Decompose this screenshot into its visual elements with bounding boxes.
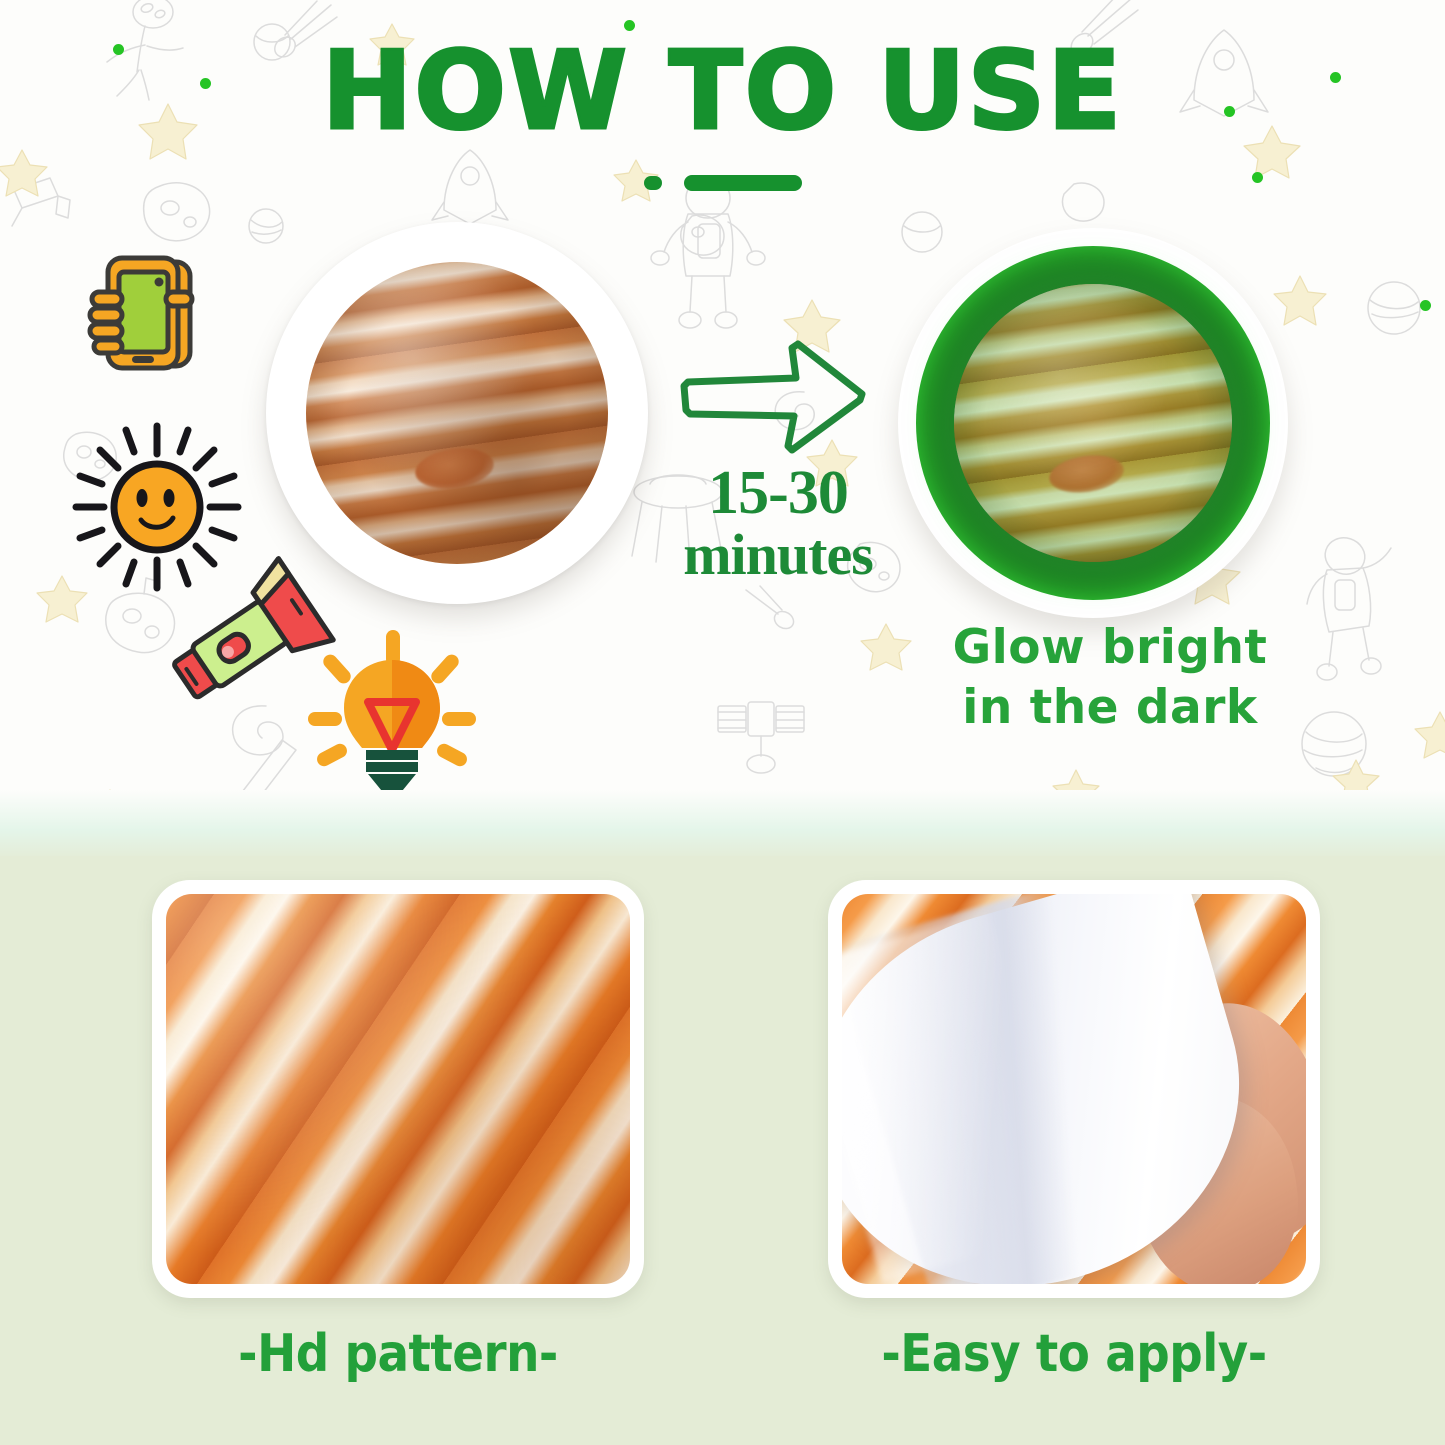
title-underline: [0, 168, 1445, 198]
features-section: -Hd pattern- -Easy to apply-: [0, 856, 1445, 1445]
duration-range: 15-30: [648, 462, 908, 525]
infographic-page: HOW TO USE: [0, 0, 1445, 1445]
jupiter-sticker-glowing: [898, 228, 1288, 618]
green-dot: [1420, 300, 1431, 311]
glow-caption-line1: Glow bright: [953, 620, 1268, 675]
feature-card-hd-pattern: [152, 880, 644, 1298]
underline-bar: [684, 175, 802, 191]
feature-image-hd-pattern: [166, 894, 630, 1284]
glow-caption: Glow bright in the dark: [930, 618, 1290, 738]
page-title: HOW TO USE: [0, 38, 1445, 146]
feature-card-easy-apply: [828, 880, 1320, 1298]
duration-text: 15-30 minutes: [648, 462, 908, 584]
phone-flashlight-icon: [86, 252, 202, 378]
how-to-use-section: HOW TO USE: [0, 0, 1445, 838]
feature-caption-hd-pattern: -Hd pattern-: [152, 1324, 644, 1384]
jupiter-sticker-normal: [266, 222, 648, 604]
lightbulb-icon: [306, 626, 478, 798]
feature-caption-easy-apply: -Easy to apply-: [828, 1324, 1320, 1384]
underline-dot: [644, 176, 662, 190]
jupiter-globe: [306, 262, 608, 564]
section-gradient-divider: [0, 790, 1445, 860]
glow-caption-line2: in the dark: [962, 680, 1257, 735]
feature-image-easy-apply: [842, 894, 1306, 1284]
duration-unit: minutes: [648, 525, 908, 584]
right-arrow-icon: [680, 338, 870, 458]
jupiter-globe-glowing: [954, 284, 1232, 562]
